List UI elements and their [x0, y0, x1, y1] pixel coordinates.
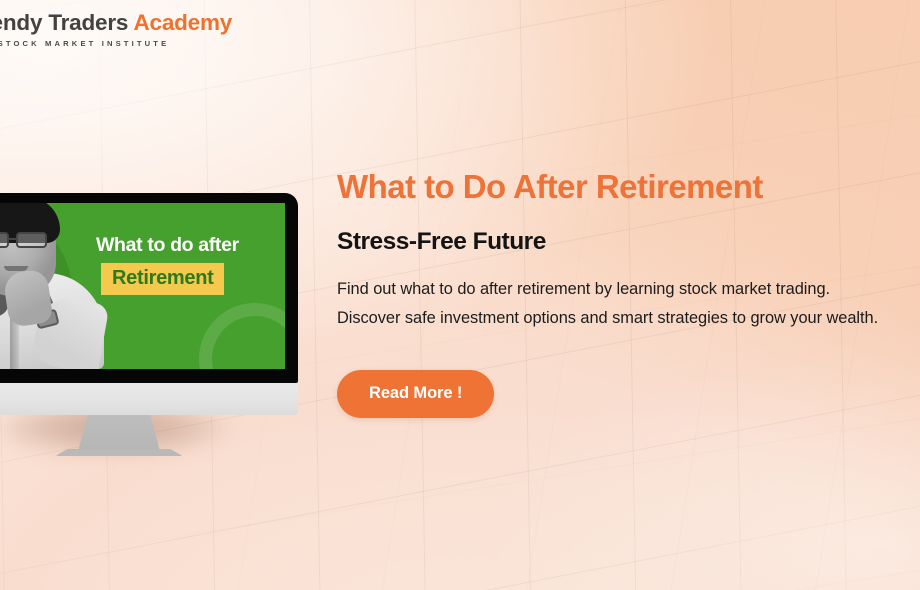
- glasses-lens-right: [16, 232, 47, 248]
- hero-banner: rendy Traders Academy A STOCK MARKET INS…: [0, 0, 920, 590]
- monitor-stand: [78, 415, 160, 451]
- monitor-bezel: What to do after Retirement: [0, 193, 298, 383]
- thumbnail-highlight-badge: Retirement: [101, 263, 224, 295]
- thumbnail-title-line1: What to do after: [96, 234, 239, 257]
- brand-logo[interactable]: rendy Traders Academy A STOCK MARKET INS…: [0, 12, 232, 47]
- glasses-lens-left: [0, 232, 9, 248]
- brand-name-dark: rendy Traders: [0, 10, 128, 35]
- monitor-screen[interactable]: What to do after Retirement: [0, 203, 285, 369]
- thumbnail-title-line2: Retirement: [112, 267, 213, 289]
- brand-name: rendy Traders Academy: [0, 12, 232, 35]
- presenter-photo: [0, 203, 108, 369]
- hero-subheading: Stress-Free Future: [337, 227, 857, 256]
- monitor-stand-base: [55, 449, 183, 456]
- presenter-glasses: [0, 232, 58, 248]
- screen-decorative-ring: [199, 303, 285, 369]
- monitor-mockup: What to do after Retirement: [0, 193, 300, 456]
- monitor-chin: [0, 383, 298, 415]
- hero-copy: What to Do After Retirement Stress-Free …: [337, 168, 857, 418]
- read-more-button[interactable]: Read More !: [337, 370, 494, 418]
- brand-tagline: A STOCK MARKET INSTITUTE: [0, 40, 232, 48]
- hero-body-text: Find out what to do after retirement by …: [337, 275, 885, 331]
- brand-name-accent: Academy: [133, 10, 232, 35]
- page-title: What to Do After Retirement: [337, 168, 857, 207]
